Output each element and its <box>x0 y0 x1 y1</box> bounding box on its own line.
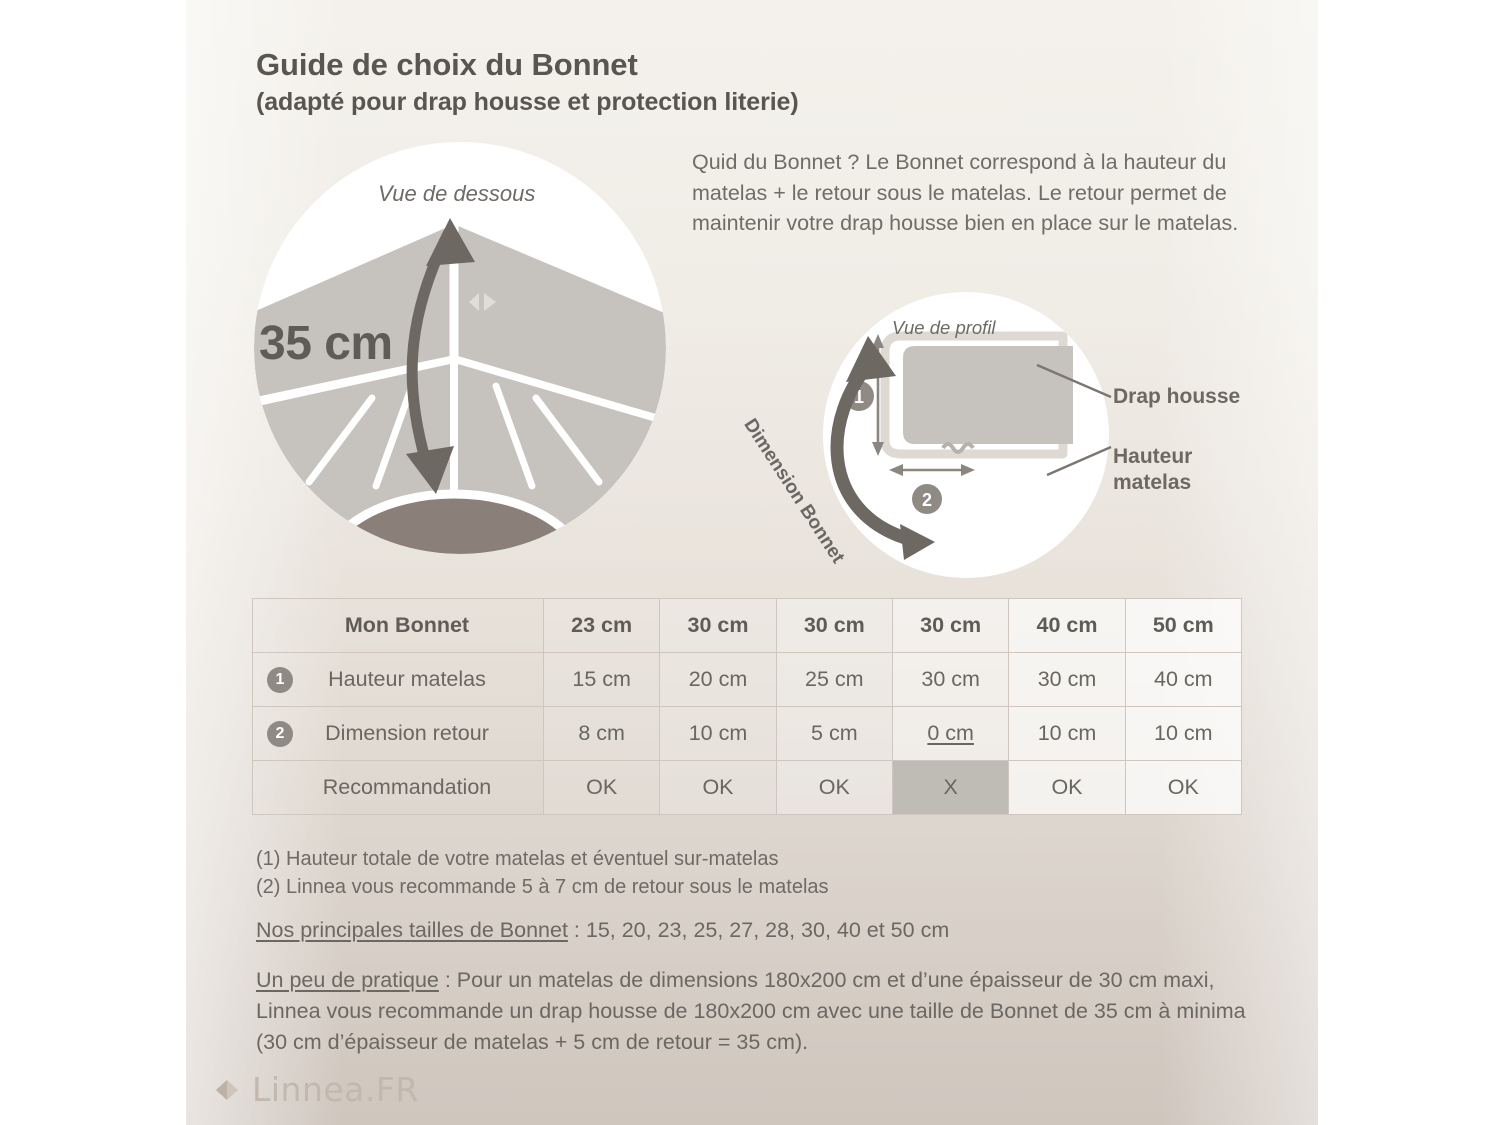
table-row-dimension-retour: 2 Dimension retour 8 cm 10 cm 5 cm 0 cm … <box>253 707 1242 761</box>
table-cell-retour-6: 10 cm <box>1125 707 1241 761</box>
diamond-logo-icon <box>212 1075 242 1105</box>
sizes-label: Nos principales tailles de Bonnet <box>256 918 568 942</box>
table-rowlabel-reco: Recommandation <box>253 761 544 815</box>
footnote-1: (1) Hauteur totale de votre matelas et é… <box>256 845 1206 873</box>
table-cell-hauteur-3: 25 cm <box>776 653 892 707</box>
title-line-2: (adapté pour drap housse et protection l… <box>256 86 1156 119</box>
table-cell-retour-5: 10 cm <box>1009 707 1125 761</box>
table-cell-retour-2: 10 cm <box>660 707 776 761</box>
page-title: Guide de choix du Bonnet (adapté pour dr… <box>256 46 1156 118</box>
table-rowlabel-hauteur: 1 Hauteur matelas <box>253 653 544 707</box>
table-rowlabel-hauteur-text: Hauteur matelas <box>328 667 486 691</box>
badge-2-icon: 2 <box>267 721 293 747</box>
table-cell-retour-3: 5 cm <box>776 707 892 761</box>
bonnet-table: Mon Bonnet 23 cm 30 cm 30 cm 30 cm 40 cm… <box>252 598 1242 815</box>
table-cell-retour-4-text: 0 cm <box>927 721 974 745</box>
table-cell-reco-1: OK <box>544 761 660 815</box>
table-cell-retour-1: 8 cm <box>544 707 660 761</box>
content-layer: Guide de choix du Bonnet (adapté pour dr… <box>0 0 1500 1125</box>
table-cell-hauteur-5: 30 cm <box>1009 653 1125 707</box>
table-cell-bonnet-6: 50 cm <box>1125 599 1241 653</box>
table-cell-reco-5: OK <box>1009 761 1125 815</box>
table-row-hauteur-matelas: 1 Hauteur matelas 15 cm 20 cm 25 cm 30 c… <box>253 653 1242 707</box>
table-rowlabel-retour-text: Dimension retour <box>325 721 489 745</box>
table-cell-bonnet-1: 23 cm <box>544 599 660 653</box>
table-cell-reco-6: OK <box>1125 761 1241 815</box>
practice-label: Un peu de pratique <box>256 968 439 992</box>
callout-leader-lines <box>1035 355 1145 485</box>
table-rowlabel-bonnet: Mon Bonnet <box>253 599 544 653</box>
footnote-2: (2) Linnea vous recommande 5 à 7 cm de r… <box>256 873 1206 901</box>
badge-1-icon: 1 <box>267 667 293 693</box>
table-cell-hauteur-2: 20 cm <box>660 653 776 707</box>
linnea-logo[interactable]: Linnea.FR <box>212 1070 419 1109</box>
logo-text: Linnea.FR <box>252 1070 419 1109</box>
practice-paragraph: Un peu de pratique : Pour un matelas de … <box>256 965 1256 1058</box>
sizes-rest: : 15, 20, 23, 25, 27, 28, 30, 40 et 50 c… <box>568 918 949 942</box>
table-cell-bonnet-2: 30 cm <box>660 599 776 653</box>
table-cell-hauteur-1: 15 cm <box>544 653 660 707</box>
intro-paragraph: Quid du Bonnet ? Le Bonnet correspond à … <box>692 147 1272 239</box>
sizes-line: Nos principales tailles de Bonnet : 15, … <box>256 918 1256 943</box>
infographic-root: Guide de choix du Bonnet (adapté pour dr… <box>0 0 1500 1125</box>
bonnet-table-wrapper: Mon Bonnet 23 cm 30 cm 30 cm 30 cm 40 cm… <box>252 598 1242 815</box>
table-cell-bonnet-3: 30 cm <box>776 599 892 653</box>
table-cell-hauteur-4: 30 cm <box>892 653 1008 707</box>
bottom-view-caption: Vue de dessous <box>378 181 535 207</box>
table-cell-retour-4: 0 cm <box>892 707 1008 761</box>
title-line-1: Guide de choix du Bonnet <box>256 46 1156 84</box>
measure-35cm-label: 35 cm <box>259 316 393 371</box>
table-cell-reco-4: X <box>892 761 1008 815</box>
dimension-bonnet-arrow <box>760 300 1060 600</box>
table-row-bonnet: Mon Bonnet 23 cm 30 cm 30 cm 30 cm 40 cm… <box>253 599 1242 653</box>
table-rowlabel-retour: 2 Dimension retour <box>253 707 544 761</box>
footnotes-block: (1) Hauteur totale de votre matelas et é… <box>256 845 1206 902</box>
table-cell-bonnet-4: 30 cm <box>892 599 1008 653</box>
table-row-recommandation: Recommandation OK OK OK X OK OK <box>253 761 1242 815</box>
table-cell-reco-2: OK <box>660 761 776 815</box>
table-cell-reco-3: OK <box>776 761 892 815</box>
table-cell-hauteur-6: 40 cm <box>1125 653 1241 707</box>
table-cell-bonnet-5: 40 cm <box>1009 599 1125 653</box>
